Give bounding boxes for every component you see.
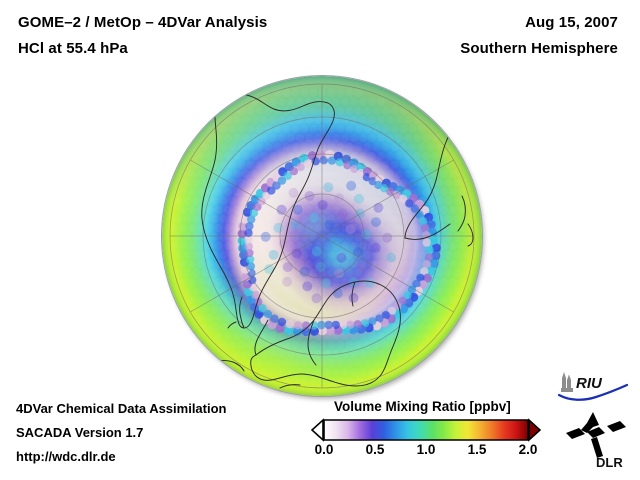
- colorbar-ticks: 0.00.51.01.52.0: [310, 442, 542, 464]
- riu-spires-icon: [561, 372, 573, 392]
- colorbar-tick-label: 1.0: [417, 442, 436, 457]
- colorbar-tick-label: 2.0: [519, 442, 538, 457]
- coastlines: [162, 76, 482, 396]
- colorbar-under-cap: [312, 420, 323, 440]
- colorbar-title: Volume Mixing Ratio [ppbv]: [334, 399, 511, 414]
- riu-logo: RIU: [556, 368, 630, 402]
- globe-disc: [162, 76, 482, 396]
- region-label: Southern Hemisphere: [460, 40, 618, 57]
- footer-line-url: http://wdc.dlr.de: [16, 449, 116, 464]
- footer-line-assimilation: 4DVar Chemical Data Assimilation: [16, 401, 227, 416]
- colorbar-tick-label: 0.5: [366, 442, 385, 457]
- globe-map: [162, 76, 482, 396]
- riu-wordmark: RIU: [576, 375, 603, 392]
- colorbar-tick-label: 1.5: [468, 442, 487, 457]
- instrument-title: GOME–2 / MetOp – 4DVar Analysis: [18, 14, 267, 31]
- dlr-mark-icon: [566, 412, 626, 458]
- species-subtitle: HCl at 55.4 hPa: [18, 40, 128, 57]
- colorbar-svg: [310, 418, 542, 442]
- dlr-logo: DLR: [562, 410, 630, 470]
- colorbar-tick-label: 0.0: [315, 442, 334, 457]
- colorbar: [310, 418, 542, 442]
- colorbar-over-cap: [529, 420, 540, 440]
- dlr-wordmark: DLR: [596, 455, 623, 470]
- colorbar-body: [324, 420, 528, 440]
- date-label: Aug 15, 2007: [525, 14, 618, 31]
- footer-line-version: SACADA Version 1.7: [16, 425, 143, 440]
